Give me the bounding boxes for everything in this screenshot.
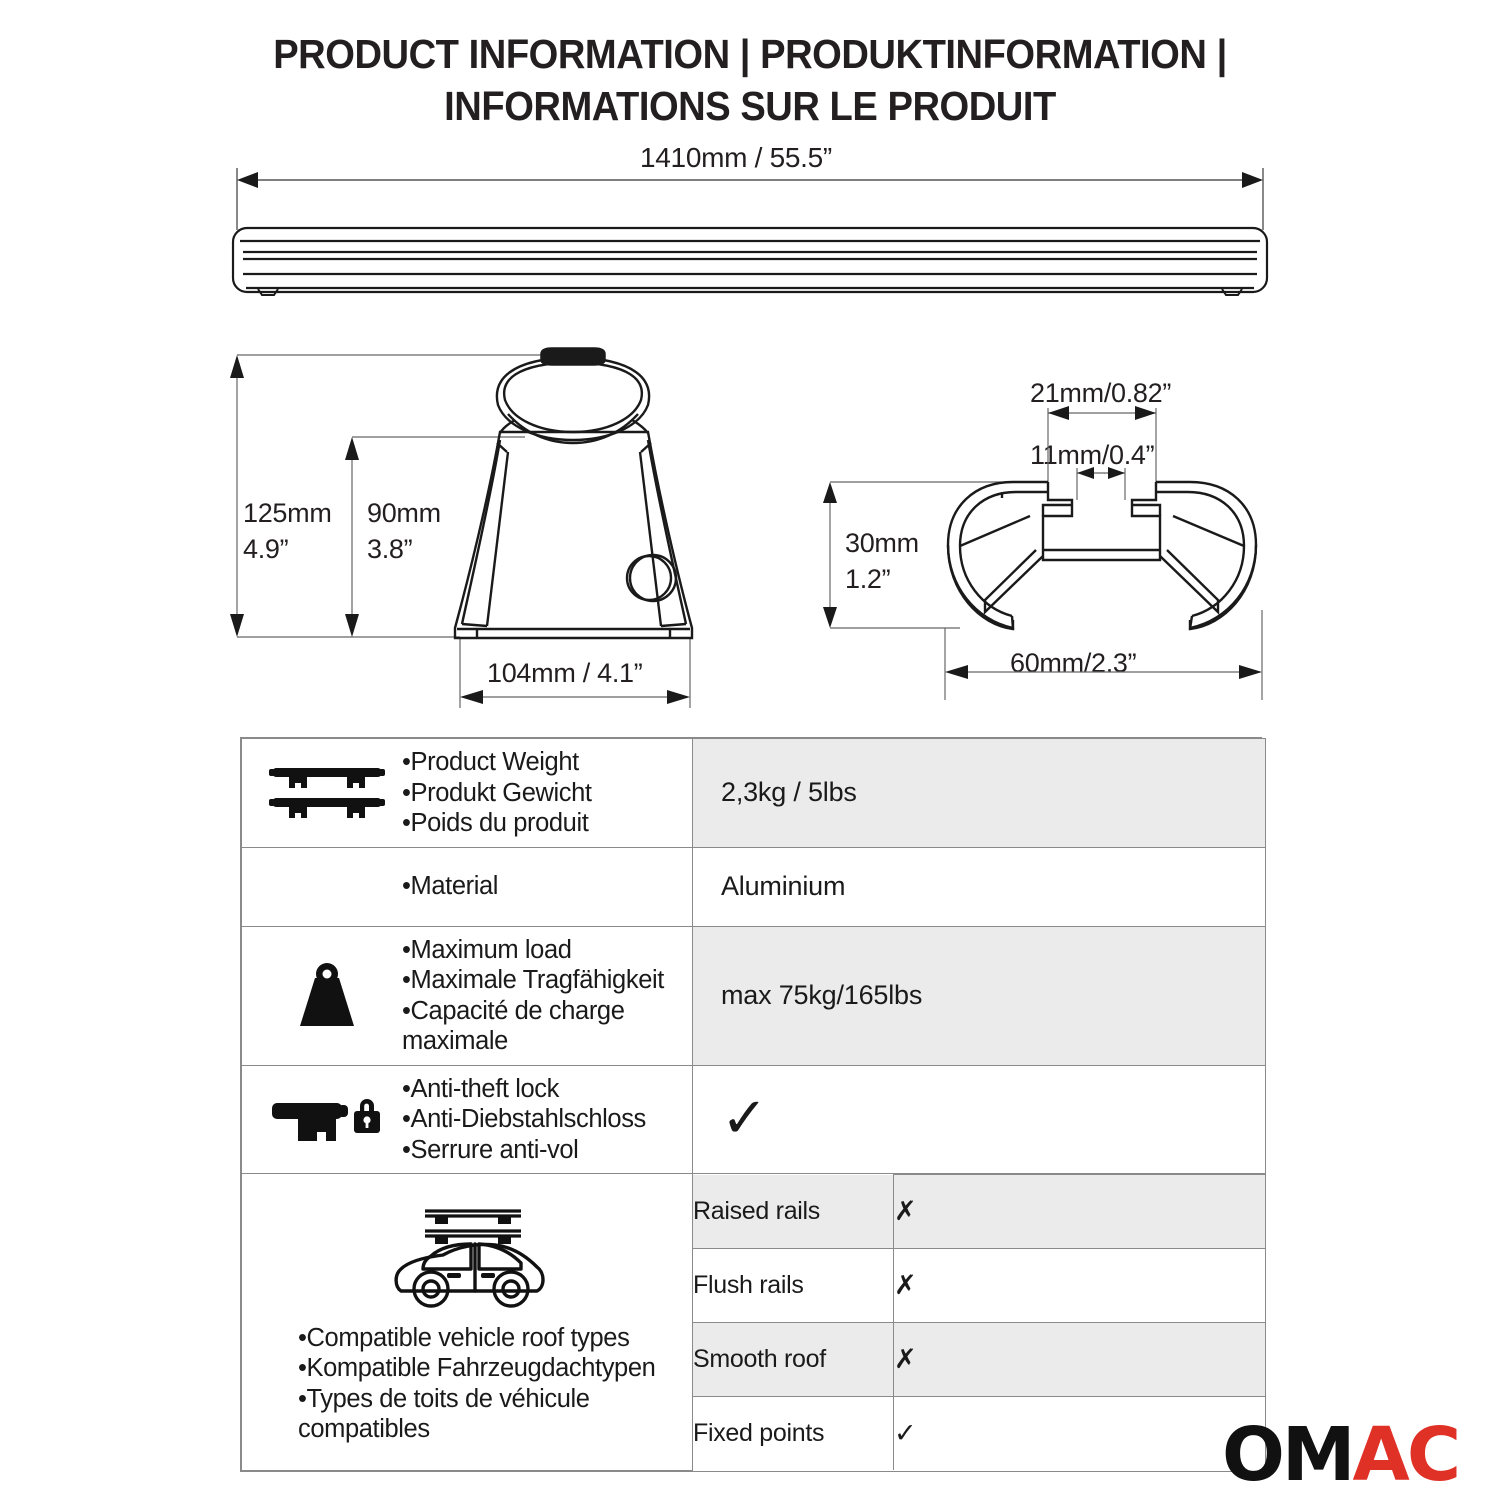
row-value-cell: Aluminium <box>693 847 1266 926</box>
roof-types-label-text: •Compatible vehicle roof types •Kompatib… <box>248 1323 655 1445</box>
row-label-cell: •Maximum load •Maximale Tragfähigkeit •C… <box>242 926 693 1065</box>
crossbars-icon <box>252 762 402 824</box>
row-value-text: Aluminium <box>693 871 1265 902</box>
anti-theft-check-mark: ✓ <box>693 1091 1265 1147</box>
table-row: •Maximum load •Maximale Tragfähigkeit •C… <box>242 926 1266 1065</box>
lock-icon <box>252 1083 402 1155</box>
row-label-cell: •Anti-theft lock •Anti-Diebstahlschloss … <box>242 1065 693 1174</box>
roof-type-mark: ✓ <box>894 1397 1266 1471</box>
roof-types-label-cell: •Compatible vehicle roof types •Kompatib… <box>242 1174 693 1471</box>
roof-type-row: Fixed points ✓ <box>693 1397 1265 1471</box>
product-info-sheet: PRODUCT INFORMATION | PRODUKTINFORMATION… <box>0 0 1500 1500</box>
row-value-cell: max 75kg/165lbs <box>693 926 1266 1065</box>
table-row: •Anti-theft lock •Anti-Diebstahlschloss … <box>242 1065 1266 1174</box>
roof-type-row: Smooth roof ✗ <box>693 1323 1265 1397</box>
row-label-text: •Anti-theft lock •Anti-Diebstahlschloss … <box>402 1074 688 1166</box>
row-label-cell: •Material <box>242 847 693 926</box>
roof-type-mark: ✗ <box>894 1249 1266 1323</box>
logo-text-ac: AC <box>1353 1412 1459 1498</box>
roof-type-row: Raised rails ✗ <box>693 1175 1265 1249</box>
table-row-roof-types: •Compatible vehicle roof types •Kompatib… <box>242 1174 1266 1471</box>
weight-icon <box>252 960 402 1032</box>
row-value-text: max 75kg/165lbs <box>693 980 1265 1011</box>
roof-type-mark: ✗ <box>894 1323 1266 1397</box>
roof-type-name: Raised rails <box>693 1175 894 1249</box>
row-value-text: 2,3kg / 5lbs <box>693 777 1265 808</box>
row-value-cell: ✓ <box>693 1065 1266 1174</box>
table-row: •Product Weight •Produkt Gewicht •Poids … <box>242 739 1266 848</box>
logo-text-om: OM <box>1222 1412 1353 1498</box>
specs-table: •Product Weight •Produkt Gewicht •Poids … <box>240 737 1262 1472</box>
roof-type-row: Flush rails ✗ <box>693 1249 1265 1323</box>
roof-type-name: Smooth roof <box>693 1323 894 1397</box>
table-row: •Material Aluminium <box>242 847 1266 926</box>
car-with-rack-icon <box>248 1199 688 1317</box>
roof-type-mark: ✗ <box>894 1175 1266 1249</box>
omac-logo: OMAC <box>1222 1418 1458 1492</box>
roof-type-name: Flush rails <box>693 1249 894 1323</box>
roof-type-name: Fixed points <box>693 1397 894 1471</box>
row-label-text: •Material <box>402 871 688 902</box>
row-label-cell: •Product Weight •Produkt Gewicht •Poids … <box>242 739 693 848</box>
row-label-text: •Product Weight •Produkt Gewicht •Poids … <box>402 747 688 839</box>
roof-types-value-cell: Raised rails ✗ Flush rails ✗ Smooth roof… <box>693 1174 1266 1471</box>
row-label-text: •Maximum load •Maximale Tragfähigkeit •C… <box>402 935 688 1057</box>
row-value-cell: 2,3kg / 5lbs <box>693 739 1266 848</box>
